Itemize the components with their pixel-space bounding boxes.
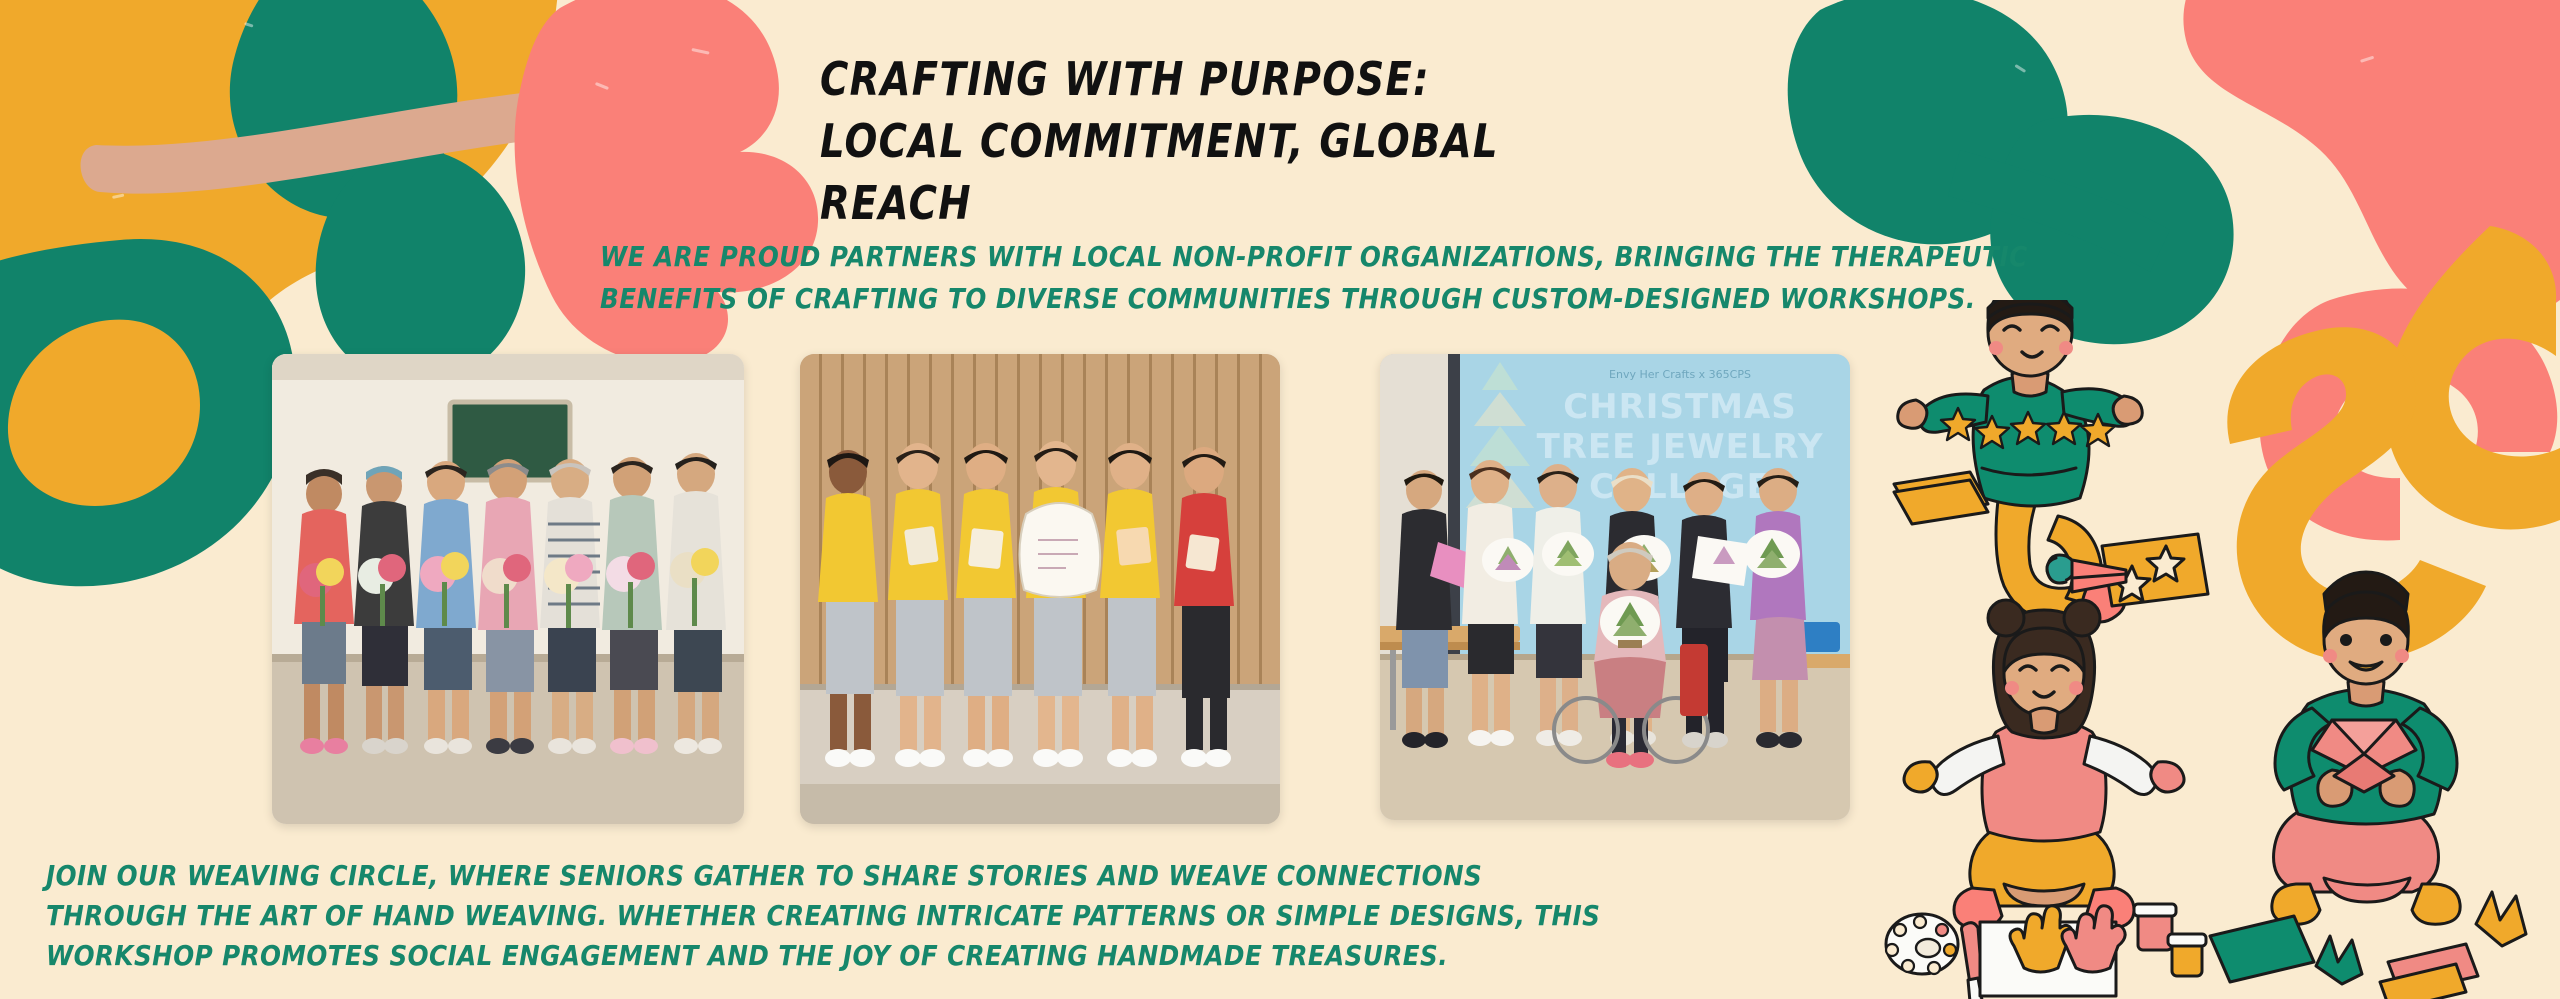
slide-brand-text: Envy Her Crafts x 365CPS	[1609, 368, 1751, 381]
page-title: CRAFTING WITH PURPOSE: LOCAL COMMITMENT,…	[820, 48, 1660, 234]
headline-line-1: CRAFTING WITH PURPOSE:	[820, 52, 1430, 106]
headline-line-2: LOCAL COMMITMENT, GLOBAL REACH	[820, 110, 1660, 234]
poster-stage: CRAFTING WITH PURPOSE: LOCAL COMMITMENT,…	[0, 0, 2560, 999]
paint-palette	[1886, 914, 1958, 974]
teal-leaf-topright-a	[1788, 0, 2068, 244]
intro-line-2: BENEFITS OF CRAFTING TO DIVERSE COMMUNIT…	[600, 278, 1832, 320]
paper-stack-yellow	[1894, 472, 1988, 524]
intro-line-1: WE ARE PROUD PARTNERS WITH LOCAL NON-PRO…	[600, 236, 1832, 278]
sitting-girl-arms-open	[1904, 600, 2184, 928]
outro-line-2: THROUGH THE ART OF HAND WEAVING. WHETHER…	[46, 896, 1366, 936]
sitting-boy-origami	[2272, 572, 2460, 924]
teal-leaf-upper-left	[230, 0, 457, 218]
origami-crane-yellow	[2476, 892, 2526, 946]
outro-line-3: WORKSHOP PROMOTES SOCIAL ENGAGEMENT AND …	[46, 936, 1366, 976]
photo-christmas-collage[interactable]: Envy Her Crafts x 365CPS CHRISTMAS TREE …	[1380, 354, 1850, 820]
flower-stem	[81, 80, 700, 194]
photo-seniors-bouquets[interactable]	[272, 354, 744, 824]
paint-jar-yellow	[2168, 934, 2206, 976]
intro-paragraph: WE ARE PROUD PARTNERS WITH LOCAL NON-PRO…	[600, 236, 1832, 320]
handprint-paper	[1980, 906, 2125, 996]
photo-students-crafts[interactable]	[800, 354, 1280, 824]
origami-paper-teal	[2210, 916, 2314, 982]
slide-title-line-2: TREE JEWELRY	[1537, 427, 1824, 467]
outro-paragraph: JOIN OUR WEAVING CIRCLE, WHERE SENIORS G…	[46, 856, 1366, 976]
slide-title-line-1: CHRISTMAS	[1563, 387, 1797, 427]
outro-line-1: JOIN OUR WEAVING CIRCLE, WHERE SENIORS G…	[46, 856, 1366, 896]
pink-blob-topright	[2183, 0, 2560, 323]
illustrated-children-group	[1880, 300, 2560, 999]
origami-crane-teal	[2316, 936, 2362, 984]
teal-leaf-lower-left	[316, 148, 525, 384]
